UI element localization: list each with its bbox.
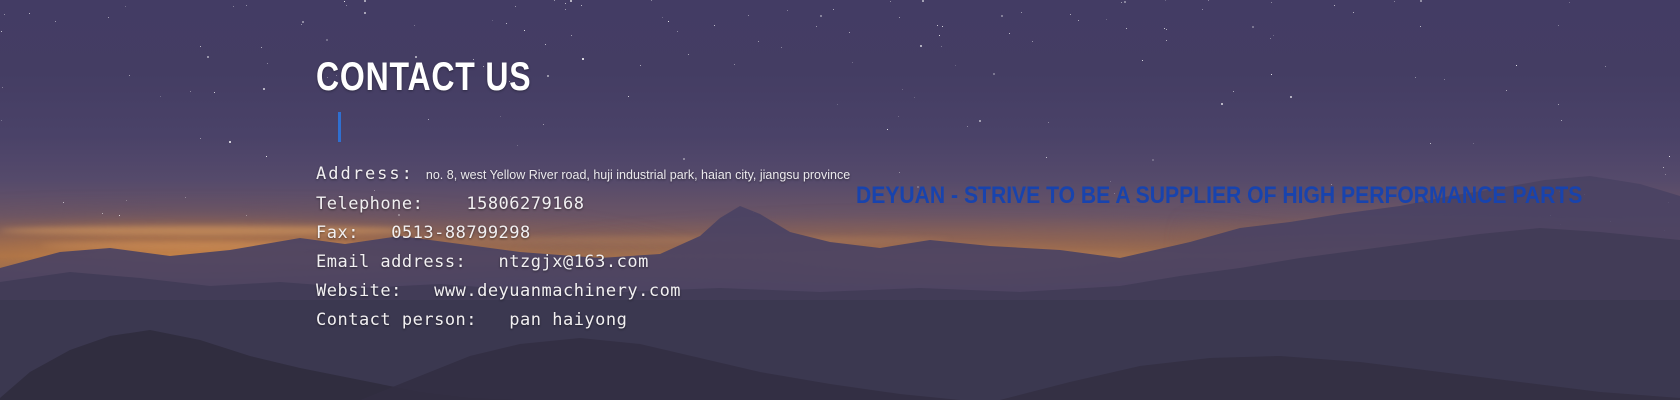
email-label: Email address:	[316, 252, 466, 272]
website-label: Website:	[316, 281, 402, 301]
accent-bar	[338, 112, 341, 142]
email-value[interactable]: ntzgjx@163.com	[499, 252, 649, 272]
contact-person-label: Contact person:	[316, 310, 477, 330]
contact-banner: CONTACT US Address: no. 8, west Yellow R…	[0, 0, 1680, 400]
contact-line-contact-person: Contact person: pan haiyong	[316, 306, 1076, 335]
contact-line-fax: Fax: 0513-88799298	[316, 219, 1076, 248]
website-value[interactable]: www.deyuanmachinery.com	[434, 281, 681, 301]
fax-label: Fax:	[316, 223, 359, 243]
page-title: CONTACT US	[316, 55, 924, 99]
fax-value: 0513-88799298	[391, 223, 531, 243]
contact-person-value: pan haiyong	[509, 310, 627, 330]
company-slogan: DEYUAN - STRIVE TO BE A SUPPLIER OF HIGH…	[856, 183, 1582, 209]
address-label: Address:	[316, 160, 414, 189]
address-value: no. 8, west Yellow River road, huji indu…	[426, 161, 850, 190]
telephone-value[interactable]: 15806279168	[466, 194, 584, 214]
contact-line-website: Website: www.deyuanmachinery.com	[316, 277, 1076, 306]
telephone-label: Telephone:	[316, 194, 423, 214]
contact-line-email: Email address: ntzgjx@163.com	[316, 248, 1076, 277]
